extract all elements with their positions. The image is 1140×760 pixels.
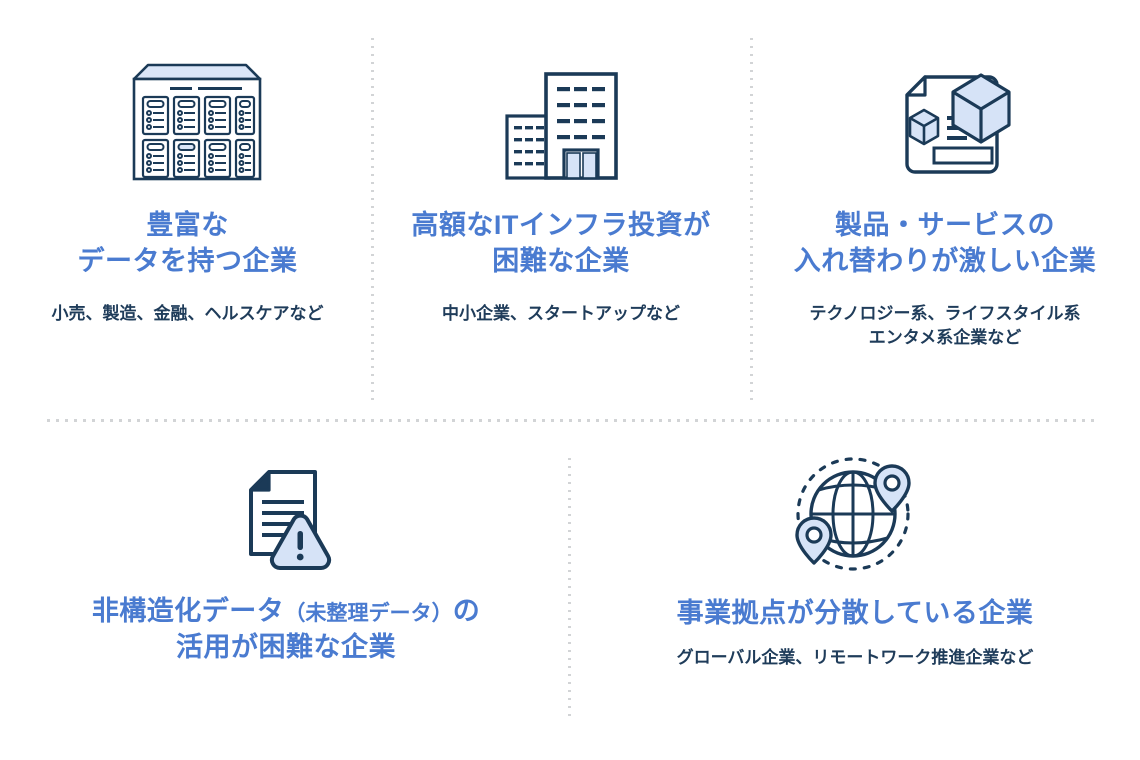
card-title: 豊富な データを持つ企業 <box>10 208 365 280</box>
card-title: 事業拠点が分散している企業 <box>576 596 1134 632</box>
divider-vertical-top-1 <box>371 38 374 402</box>
card-it-infra-investment: 高額なITインフラ投資が 困難な企業 中小企業、スタートアップなど <box>380 52 742 326</box>
document-warning-icon-wrap <box>10 460 562 572</box>
card-title-line1: 高額なITインフラ投資が <box>380 208 742 244</box>
office-building-icon-wrap <box>380 52 742 182</box>
card-distributed-locations: 事業拠点が分散している企業 グローバル企業、リモートワーク推進企業など <box>576 452 1134 671</box>
card-title: 高額なITインフラ投資が 困難な企業 <box>380 208 742 280</box>
card-title-line1: 豊富な <box>10 208 365 244</box>
card-title-line1: 製品・サービスの <box>756 208 1134 244</box>
globe-pins-icon-wrap <box>576 452 1134 574</box>
divider-vertical-top-2 <box>750 38 753 402</box>
office-building-icon <box>501 56 621 182</box>
divider-horizontal-middle <box>47 419 1094 422</box>
card-title-line1-paren: （未整理データ） <box>284 602 452 625</box>
card-subtitle: テクノロジー系、ライフスタイル系 エンタメ系企業など <box>756 302 1134 351</box>
card-product-service-turnover: 製品・サービスの 入れ替わりが激しい企業 テクノロジー系、ライフスタイル系 エン… <box>756 52 1134 351</box>
infographic-canvas: 豊富な データを持つ企業 小売、製造、金融、ヘルスケアなど <box>0 0 1140 760</box>
card-title-line1: 事業拠点が分散している企業 <box>576 596 1134 632</box>
card-subtitle-line1: グローバル企業、リモートワーク推進企業など <box>576 646 1134 671</box>
card-title-line1-main-a: 非構造化データ <box>92 596 285 626</box>
card-title-line1-main-c: の <box>453 596 481 626</box>
card-subtitle: グローバル企業、リモートワーク推進企業など <box>576 646 1134 671</box>
server-rack-icon <box>112 56 264 182</box>
card-subtitle-line2: エンタメ系企業など <box>756 326 1134 351</box>
card-title-line1: 非構造化データ（未整理データ）の <box>10 594 562 630</box>
card-title-line2: 入れ替わりが激しい企業 <box>756 244 1134 280</box>
card-unstructured-data: 非構造化データ（未整理データ）の 活用が困難な企業 <box>10 460 562 666</box>
card-subtitle-line1: テクノロジー系、ライフスタイル系 <box>756 302 1134 327</box>
card-subtitle-line1: 小売、製造、金融、ヘルスケアなど <box>10 302 365 327</box>
product-document-cube-icon-wrap <box>756 52 1134 182</box>
card-subtitle: 中小企業、スタートアップなど <box>380 302 742 327</box>
card-title: 製品・サービスの 入れ替わりが激しい企業 <box>756 208 1134 280</box>
card-title: 非構造化データ（未整理データ）の 活用が困難な企業 <box>10 594 562 666</box>
card-subtitle: 小売、製造、金融、ヘルスケアなど <box>10 302 365 327</box>
card-abundant-data: 豊富な データを持つ企業 小売、製造、金融、ヘルスケアなど <box>10 52 365 326</box>
card-title-line2: 活用が困難な企業 <box>10 630 562 666</box>
server-rack-icon-wrap <box>10 52 365 182</box>
card-subtitle-line1: 中小企業、スタートアップなど <box>380 302 742 327</box>
card-title-line2: データを持つ企業 <box>10 244 365 280</box>
card-title-line2: 困難な企業 <box>380 244 742 280</box>
product-document-cube-icon <box>877 56 1013 182</box>
globe-pins-icon <box>791 454 919 574</box>
divider-vertical-bottom-1 <box>568 458 571 716</box>
document-warning-icon <box>237 468 335 572</box>
